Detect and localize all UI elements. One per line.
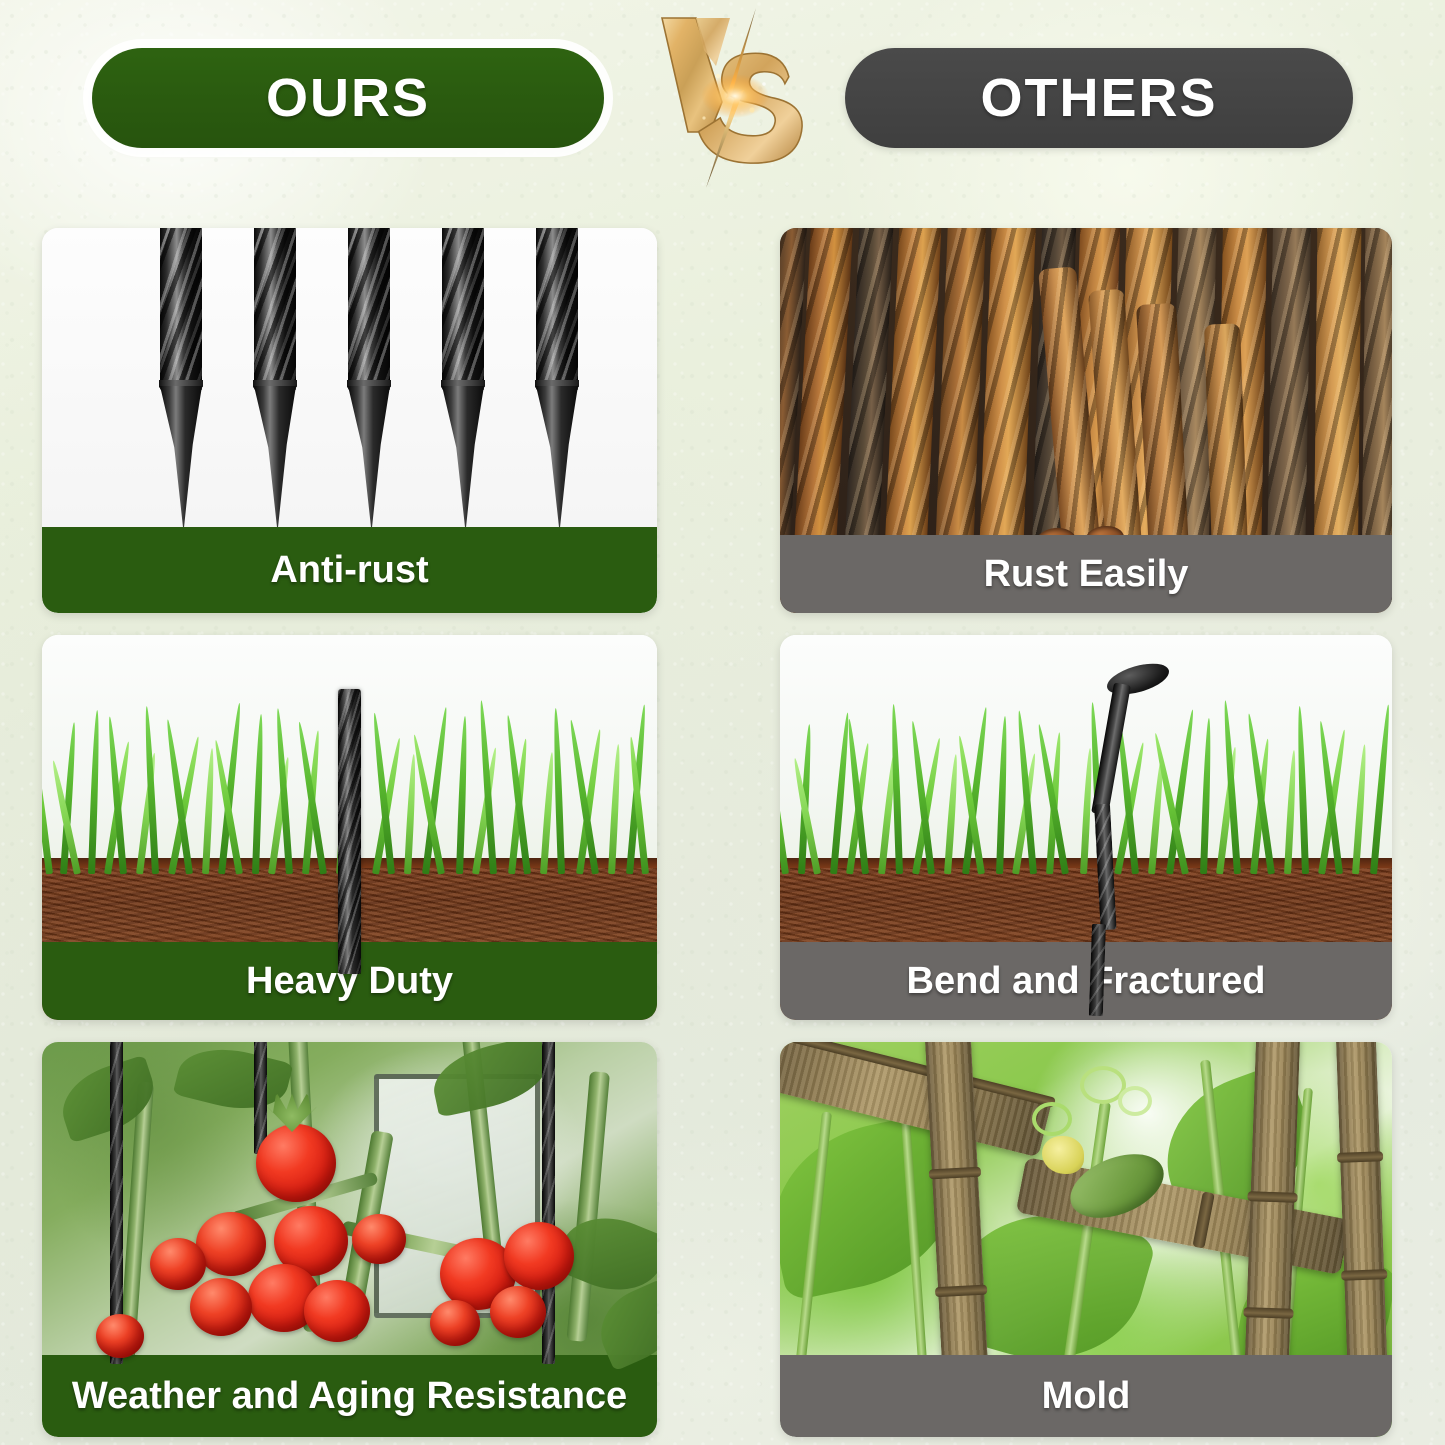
others-label: OTHERS (980, 67, 1217, 129)
header: OURS (0, 0, 1445, 200)
ours-label: OURS (266, 67, 430, 129)
label-mold: Mold (780, 1355, 1392, 1437)
ours-pill: OURS (92, 48, 604, 148)
label-anti-rust: Anti-rust (42, 527, 657, 613)
label-text: Rust Easily (984, 553, 1189, 596)
card-others-bend-fractured: Bend and Fractured (780, 635, 1392, 1020)
card-others-rust-easily: Rust Easily (780, 228, 1392, 613)
nail-neck (1091, 682, 1131, 815)
label-text: Anti-rust (270, 549, 428, 592)
card-others-mold: Mold (780, 1042, 1392, 1437)
nail-shaft-lower (1089, 924, 1106, 1016)
comparison-infographic: OURS (0, 0, 1445, 1445)
nail-shaft-mid (1094, 803, 1117, 930)
card-ours-weather-resistance: Weather and Aging Resistance (42, 1042, 657, 1437)
bent-nail (1068, 666, 1158, 1005)
card-ours-heavy-duty: Heavy Duty (42, 635, 657, 1020)
vs-logo-icon (640, 6, 830, 196)
label-weather-and-aging-resistance: Weather and Aging Resistance (42, 1355, 657, 1437)
straight-stake (338, 689, 361, 974)
others-pill: OTHERS (845, 48, 1353, 148)
label-text: Mold (1042, 1375, 1131, 1418)
label-rust-easily: Rust Easily (780, 535, 1392, 613)
card-ours-anti-rust: Anti-rust (42, 228, 657, 613)
label-text: Weather and Aging Resistance (72, 1375, 627, 1418)
flower-bud (1042, 1136, 1084, 1174)
comparison-grid: Anti-rust (0, 210, 1445, 1445)
